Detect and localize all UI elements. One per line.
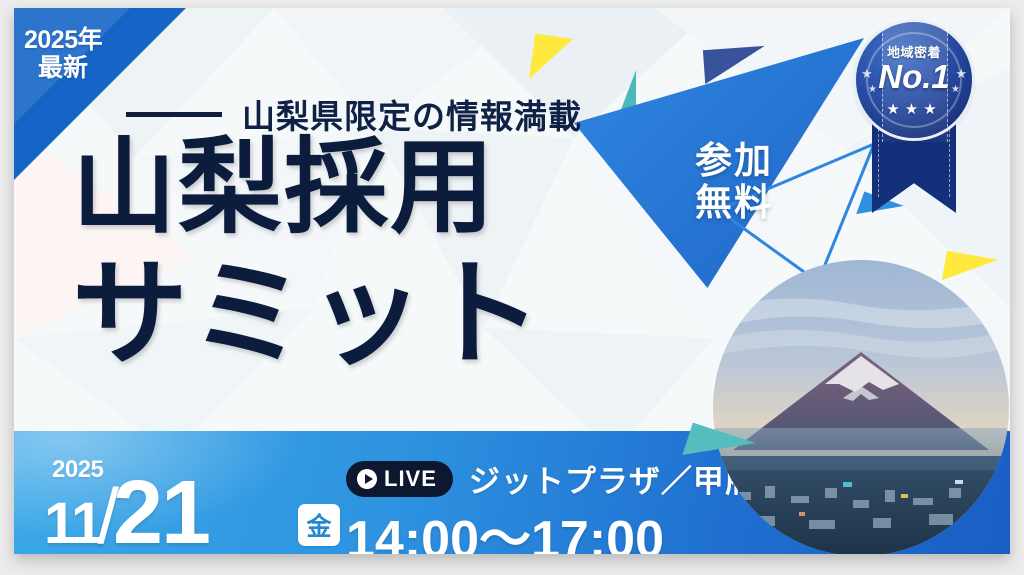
free-badge-line1: 参加 bbox=[695, 140, 773, 181]
medal-stars-icon: ★★★ bbox=[852, 100, 976, 118]
event-month-day: 11/21 bbox=[44, 468, 209, 554]
free-badge-line2: 無料 bbox=[695, 182, 773, 223]
play-icon bbox=[357, 469, 377, 489]
event-time: 14:00〜17:00 bbox=[346, 497, 664, 554]
live-badge: LIVE bbox=[346, 461, 453, 497]
ribbon-line1: 2025年 bbox=[24, 26, 174, 54]
page-root: 2025年 最新 参加 無料 ★ ★ ★ ★ 地域密 bbox=[0, 0, 1024, 575]
event-day: 21 bbox=[113, 463, 209, 554]
subtitle-rule bbox=[126, 112, 222, 117]
live-label: LIVE bbox=[384, 466, 437, 492]
ribbon-line2: 最新 bbox=[38, 54, 174, 82]
corner-ribbon-text: 2025年 最新 bbox=[24, 26, 174, 82]
no1-medal-badge: ★ ★ ★ ★ 地域密着 No.1 ★★★ bbox=[852, 18, 976, 218]
day-of-week-badge: 金 bbox=[298, 504, 340, 546]
event-banner: 2025年 最新 参加 無料 ★ ★ ★ ★ 地域密 bbox=[14, 8, 1010, 554]
event-month: 11 bbox=[44, 491, 101, 554]
title-line-1: 山梨採用 bbox=[72, 136, 496, 240]
yellow-triangle-icon bbox=[529, 34, 573, 85]
live-venue-row: LIVE ジットプラザ／甲府 bbox=[346, 456, 757, 501]
mount-fuji-photo bbox=[713, 260, 1009, 554]
title-line-2: サミット bbox=[72, 256, 544, 372]
medal-rank-label: No.1 bbox=[852, 58, 976, 96]
free-admission-badge: 参加 無料 bbox=[674, 140, 794, 224]
